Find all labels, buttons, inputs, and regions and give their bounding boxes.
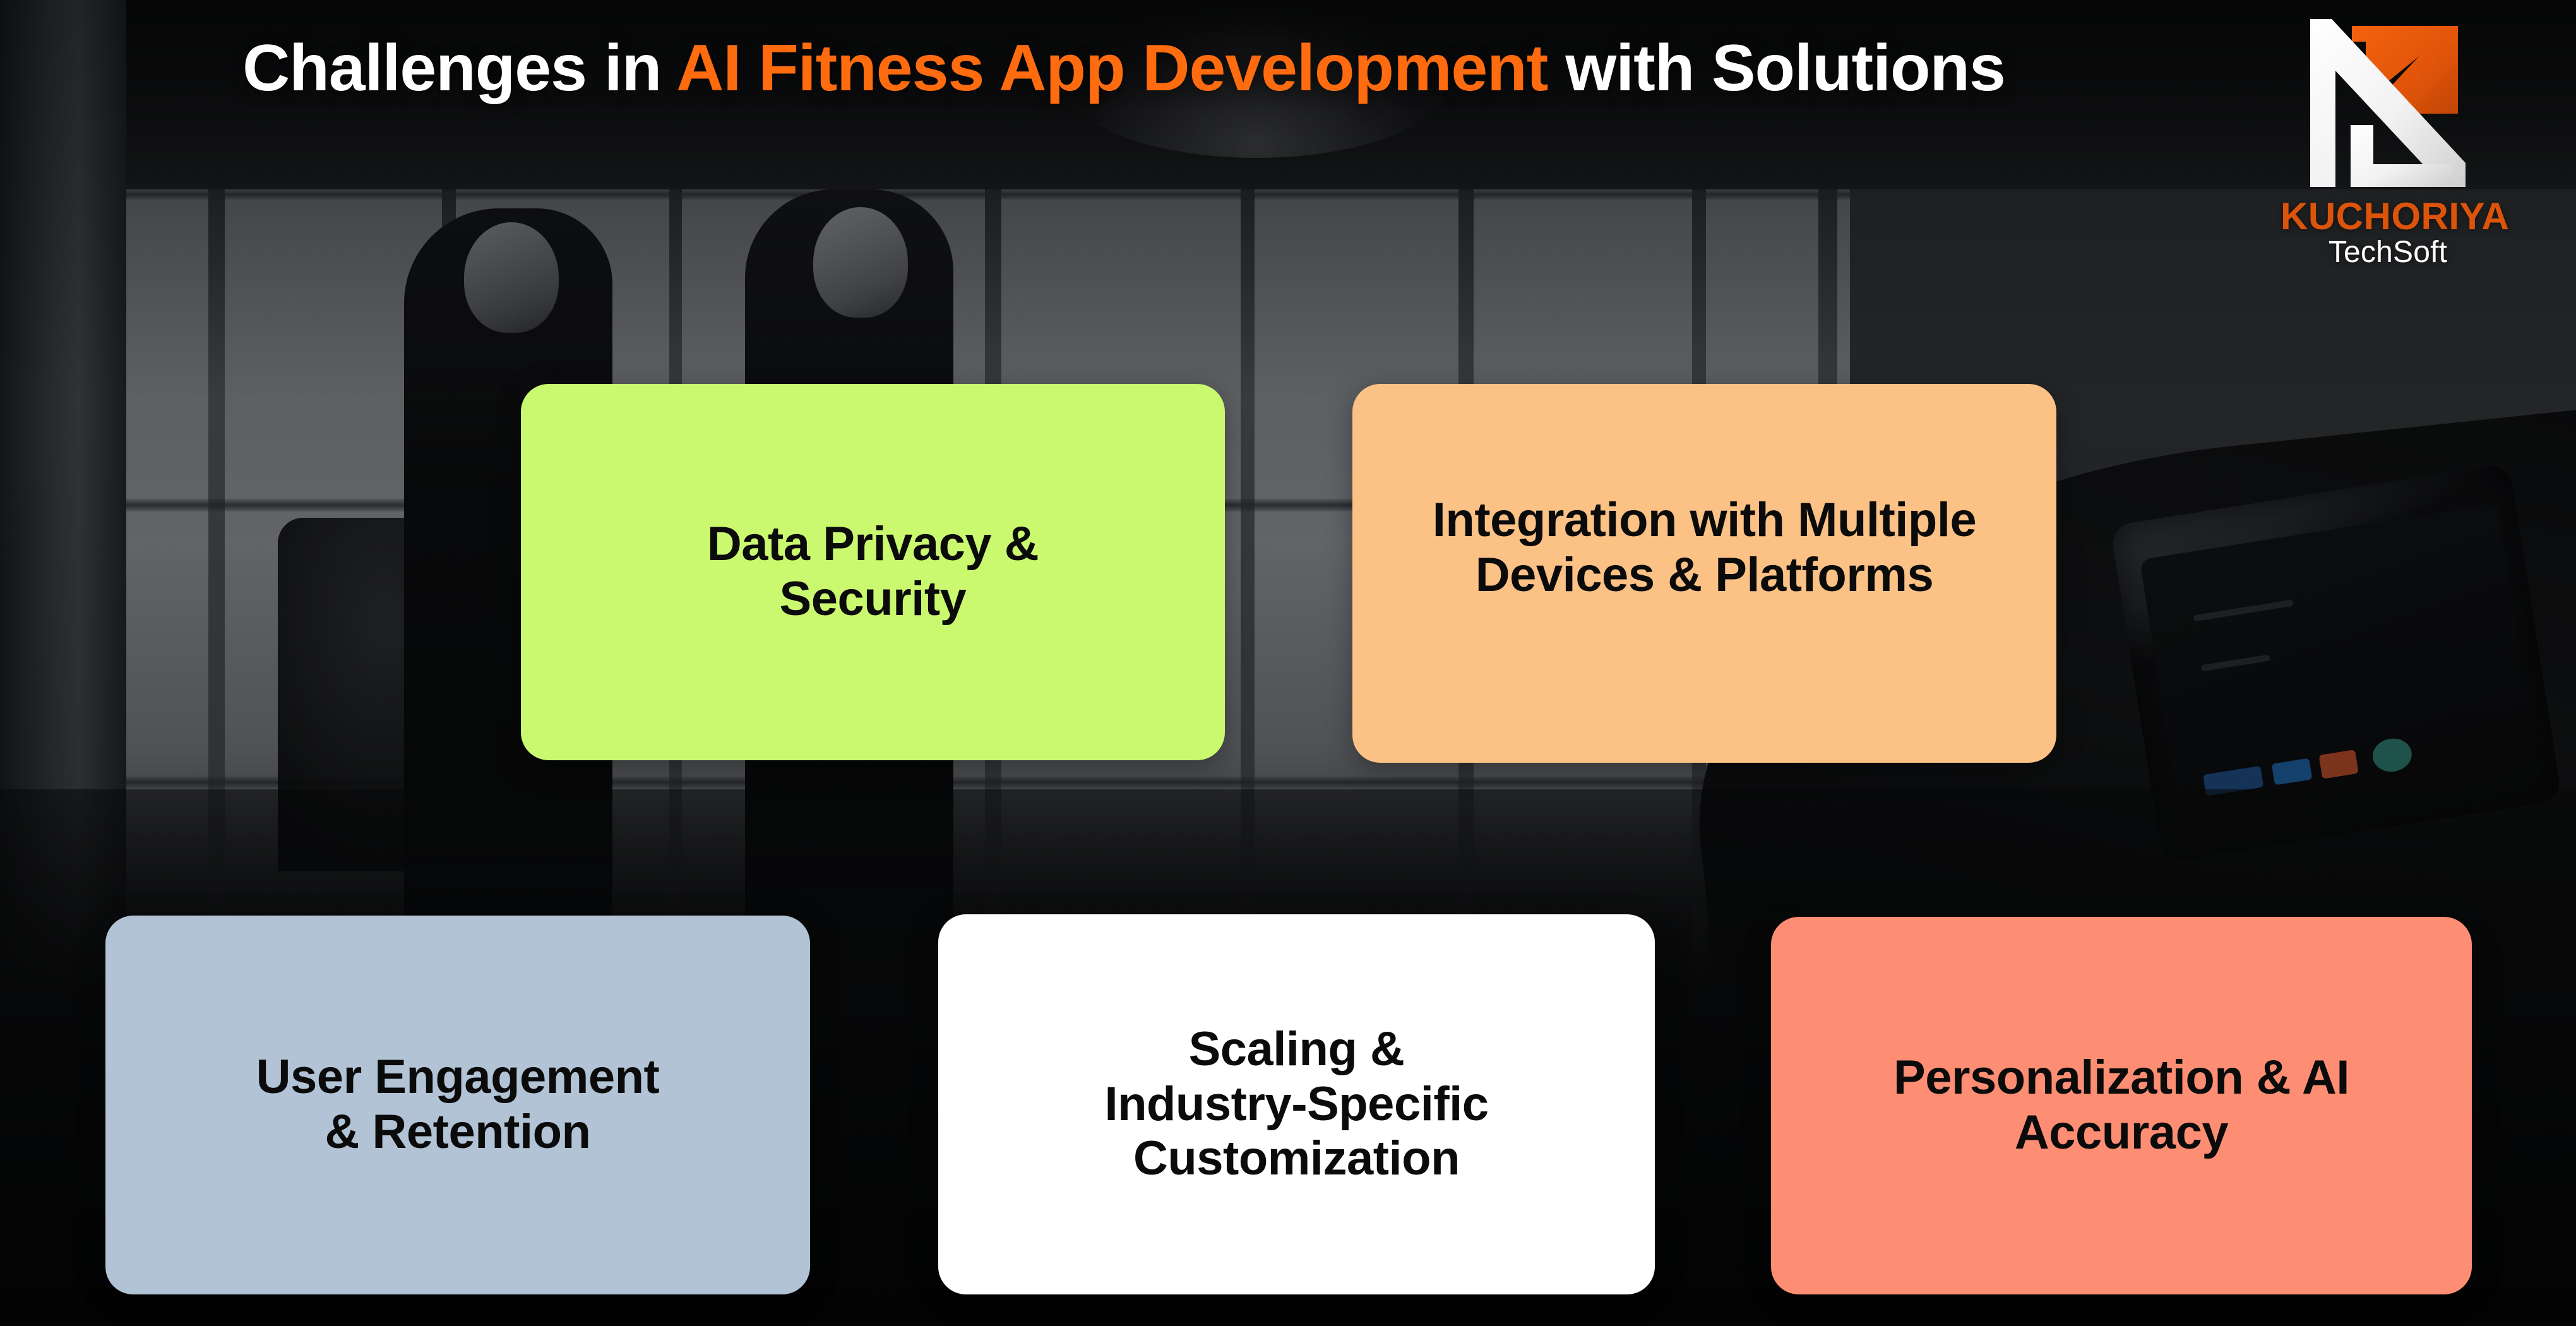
- page-title-text: Challenges in AI Fitness App Development…: [240, 30, 2008, 107]
- challenge-card-integration[interactable]: Integration with Multiple Devices & Plat…: [1352, 384, 2056, 763]
- title-suffix: with Solutions: [1547, 32, 2005, 105]
- challenge-card-label: User Engagement & Retention: [227, 1050, 689, 1159]
- company-logo[interactable]: KUCHORIYA TechSoft: [2281, 5, 2495, 270]
- title-accent: AI Fitness App Development: [676, 32, 1547, 105]
- kuchoriya-k-monogram-icon: [2303, 5, 2473, 194]
- challenge-card-user-engagement[interactable]: User Engagement & Retention: [105, 916, 810, 1294]
- title-prefix: Challenges in: [242, 32, 676, 105]
- logo-company-name: KUCHORIYA: [2281, 197, 2495, 236]
- challenge-card-personalization[interactable]: Personalization & AI Accuracy: [1771, 917, 2472, 1294]
- challenge-card-label: Personalization & AI Accuracy: [1864, 1051, 2378, 1160]
- challenge-card-label: Scaling & Industry-Specific Customizatio…: [1075, 1022, 1517, 1186]
- challenge-card-label: Data Privacy & Security: [678, 517, 1068, 626]
- challenge-card-label: Integration with Multiple Devices & Plat…: [1404, 493, 2005, 602]
- page-title: Challenges in AI Fitness App Development…: [240, 30, 2008, 107]
- challenge-card-scaling[interactable]: Scaling & Industry-Specific Customizatio…: [938, 914, 1655, 1294]
- challenge-card-data-privacy[interactable]: Data Privacy & Security: [521, 384, 1225, 760]
- logo-product-name: TechSoft: [2281, 236, 2495, 270]
- infographic-canvas: Challenges in AI Fitness App Development…: [0, 0, 2576, 1326]
